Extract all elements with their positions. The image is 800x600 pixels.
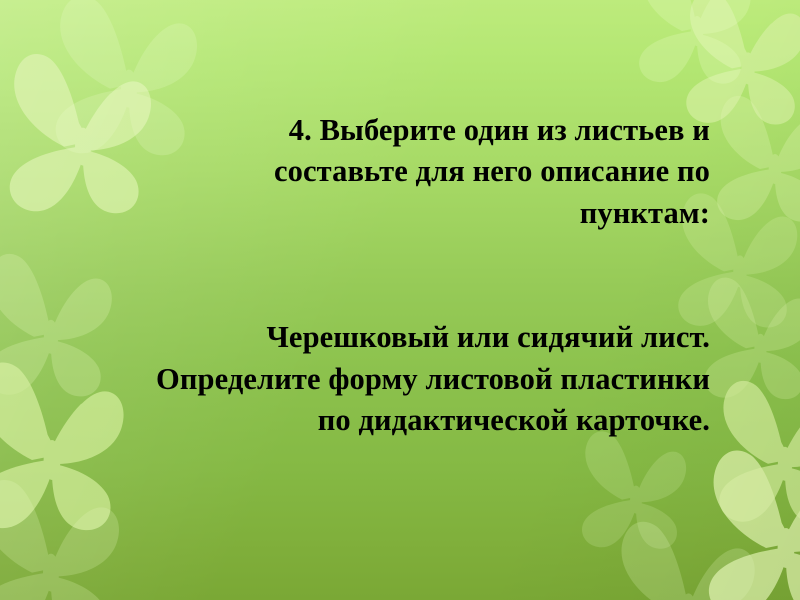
butterfly-icon — [700, 372, 800, 542]
butterfly-icon — [700, 88, 800, 238]
butterfly-icon — [0, 470, 146, 600]
butterfly-icon — [0, 245, 136, 415]
slide-canvas: 4. Выберите один из листьев и составьте … — [0, 0, 800, 600]
butterfly-icon — [0, 352, 152, 552]
slide-text-block: 4. Выберите один из листьев и составьте … — [148, 68, 710, 483]
task-paragraph-1: 4. Выберите один из листьев и составьте … — [148, 110, 710, 235]
task-paragraph-2: Черешковый или сидячий лист. Определите … — [148, 317, 710, 442]
butterfly-icon — [596, 512, 781, 600]
